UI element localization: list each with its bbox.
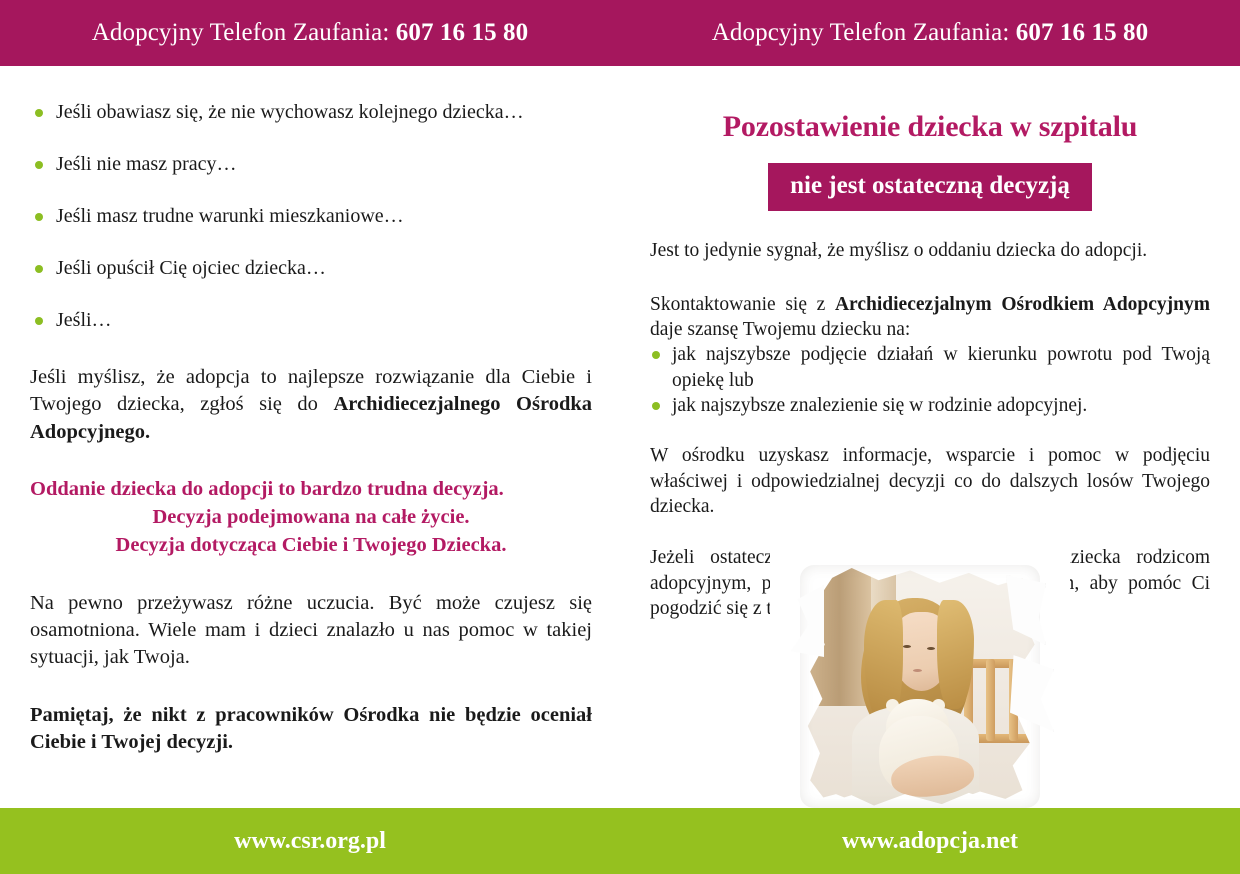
left-highlight-line-1: Oddanie dziecka do adopcji to bardzo tru… (30, 475, 592, 503)
list-item-label: jak najszybsze podjęcie działań w kierun… (672, 344, 1210, 390)
left-column: Jeśli obawiasz się, że nie wychowasz kol… (0, 66, 620, 808)
list-item-label: Jeśli opuścił Cię ojciec dziecka… (56, 257, 326, 279)
list-item: Jeśli masz trudne warunki mieszkaniowe… (32, 204, 592, 229)
list-item-label: Jeśli… (56, 309, 112, 331)
right-paragraph-1: Jest to jedynie sygnał, że myślisz o odd… (650, 238, 1210, 263)
list-item: jak najszybsze podjęcie działań w kierun… (650, 342, 1210, 393)
footer-url-right[interactable]: www.adopcja.net (620, 828, 1240, 855)
left-highlight-line-3: Decyzja dotycząca Ciebie i Twojego Dziec… (116, 534, 507, 556)
footer-bar: www.csr.org.pl www.adopcja.net (0, 808, 1240, 874)
right-paragraph-2-plain-end: daje szansę Twojemu dziecku na: (650, 319, 910, 340)
crib-bar (986, 659, 995, 741)
right-paragraph-2-bold: Archidiecezjalnym Ośrodkiem Adopcyjnym (835, 294, 1210, 315)
bullet-dot-icon (35, 265, 43, 273)
header-bar: Adopcyjny Telefon Zaufania: 607 16 15 80… (0, 0, 1240, 66)
list-item: Jeśli nie masz pracy… (32, 152, 592, 177)
header-phone-left: Adopcyjny Telefon Zaufania: 607 16 15 80 (0, 19, 620, 47)
header-left-label: Adopcyjny Telefon Zaufania: (92, 19, 390, 46)
right-subtitle-wrapper: nie jest ostateczną decyzją (650, 163, 1210, 211)
bullet-dot-icon (652, 402, 660, 410)
list-item: Jeśli obawiasz się, że nie wychowasz kol… (32, 100, 592, 125)
header-right-label: Adopcyjny Telefon Zaufania: (712, 19, 1010, 46)
header-phone-right: Adopcyjny Telefon Zaufania: 607 16 15 80 (620, 19, 1240, 47)
left-paragraph-2: Na pewno przeżywasz różne uczucia. Być m… (30, 590, 592, 672)
footer-url-left[interactable]: www.csr.org.pl (0, 828, 620, 855)
left-paragraph-1: Jeśli myślisz, że adopcja to najlepsze r… (30, 364, 592, 446)
right-paragraph-3: W ośrodku uzyskasz informacje, wsparcie … (650, 443, 1210, 519)
woman-eye-left (903, 645, 911, 648)
bullet-dot-icon (35, 213, 43, 221)
list-item-label: Jeśli nie masz pracy… (56, 153, 237, 175)
photo-mother-with-teddy (770, 545, 1070, 810)
bullet-dot-icon (35, 109, 43, 117)
torn-paper-flap (786, 585, 824, 657)
left-highlight-line-2: Decyzja podejmowana na całe życie. (152, 506, 469, 528)
bullet-dot-icon (652, 351, 660, 359)
list-item: Jeśli opuścił Cię ojciec dziecka… (32, 256, 592, 281)
list-item-label: Jeśli obawiasz się, że nie wychowasz kol… (56, 101, 524, 123)
page-title: Pozostawienie dziecka w szpitalu (650, 110, 1210, 143)
list-item: jak najszybsze znalezienie się w rodzini… (650, 393, 1210, 418)
status-badge: nie jest ostateczną decyzją (768, 163, 1092, 211)
list-item-label: jak najszybsze znalezienie się w rodzini… (672, 395, 1087, 416)
left-paragraph-3: Pamiętaj, że nikt z pracowników Ośrodka … (30, 702, 592, 757)
photo-scene (798, 563, 1042, 810)
right-bullet-list: jak najszybsze podjęcie działań w kierun… (650, 342, 1210, 418)
right-paragraph-2: Skontaktowanie się z Archidiecezjalnym O… (650, 292, 1210, 343)
list-item: Jeśli… (32, 308, 592, 333)
bullet-dot-icon (35, 161, 43, 169)
header-right-phone: 607 16 15 80 (1016, 19, 1148, 46)
left-highlight-block: Oddanie dziecka do adopcji to bardzo tru… (30, 475, 592, 559)
list-item-label: Jeśli masz trudne warunki mieszkaniowe… (56, 205, 404, 227)
left-bullet-list: Jeśli obawiasz się, że nie wychowasz kol… (32, 100, 592, 333)
bullet-dot-icon (35, 317, 43, 325)
header-left-phone: 607 16 15 80 (396, 19, 528, 46)
photo-torn-paper-frame (770, 545, 1070, 810)
right-paragraph-2-plain-start: Skontaktowanie się z (650, 294, 835, 315)
